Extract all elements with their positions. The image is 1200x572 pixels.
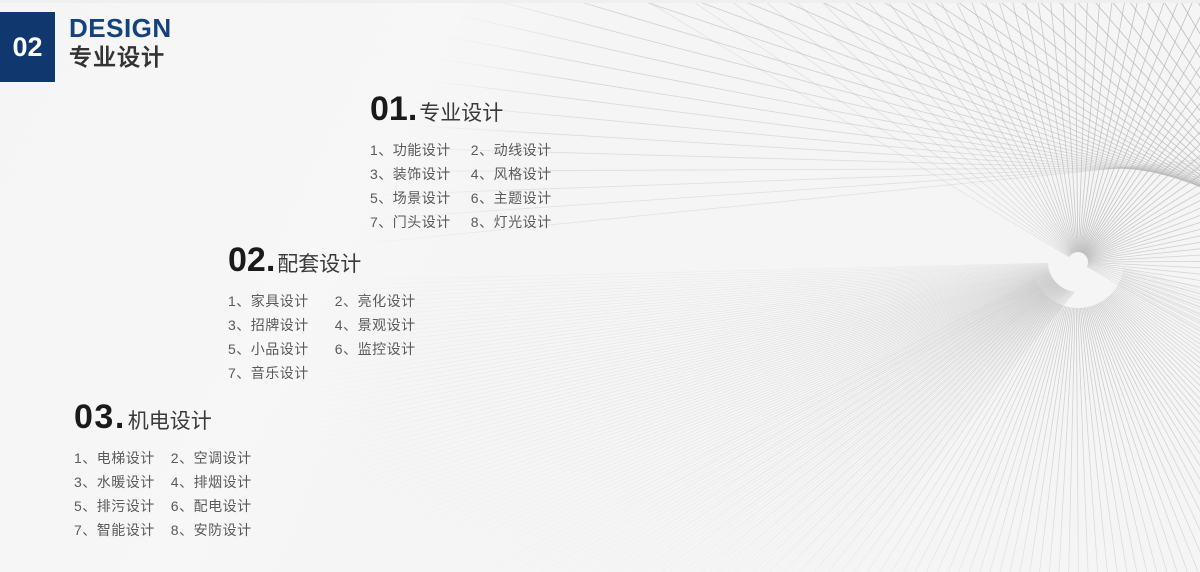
list-item: 3、招牌设计: [228, 313, 309, 337]
list-item: [335, 361, 416, 385]
slide-header: 02 DESIGN 专业设计: [0, 12, 172, 82]
list-item: 3、装饰设计: [370, 162, 451, 186]
list-item: 3、水暖设计: [74, 470, 155, 494]
list-item: 6、监控设计: [335, 337, 416, 361]
block-subtitle: 配套设计: [277, 254, 361, 275]
list-item: 1、电梯设计: [74, 446, 155, 470]
page-title-cn: 专业设计: [69, 44, 172, 72]
list-item: 4、风格设计: [471, 162, 552, 186]
slide-canvas: 02 DESIGN 专业设计 01. 专业设计 1、功能设计 2、动线设计 3、…: [0, 0, 1200, 572]
content-block-01: 01. 专业设计 1、功能设计 2、动线设计 3、装饰设计 4、风格设计 5、场…: [370, 92, 552, 234]
block-subtitle: 机电设计: [128, 411, 212, 432]
list-item: 7、音乐设计: [228, 361, 309, 385]
list-item: 8、安防设计: [171, 518, 252, 542]
list-item: 2、空调设计: [171, 446, 252, 470]
list-item: 4、排烟设计: [171, 470, 252, 494]
list-item: 1、家具设计: [228, 289, 309, 313]
block-item-list: 1、家具设计 2、亮化设计 3、招牌设计 4、景观设计 5、小品设计 6、监控设…: [228, 289, 416, 385]
list-item: 5、小品设计: [228, 337, 309, 361]
list-item: 6、配电设计: [171, 494, 252, 518]
block-number: 03.: [74, 400, 126, 434]
content-block-03: 03. 机电设计 1、电梯设计 2、空调设计 3、水暖设计 4、排烟设计 5、排…: [74, 400, 252, 542]
list-item: 6、主题设计: [471, 186, 552, 210]
block-item-list: 1、电梯设计 2、空调设计 3、水暖设计 4、排烟设计 5、排污设计 6、配电设…: [74, 446, 252, 542]
section-number-badge: 02: [0, 12, 55, 82]
header-text-group: DESIGN 专业设计: [69, 15, 172, 72]
list-item: 5、场景设计: [370, 186, 451, 210]
content-block-02: 02. 配套设计 1、家具设计 2、亮化设计 3、招牌设计 4、景观设计 5、小…: [228, 243, 416, 385]
block-item-list: 1、功能设计 2、动线设计 3、装饰设计 4、风格设计 5、场景设计 6、主题设…: [370, 138, 552, 234]
block-subtitle: 专业设计: [419, 103, 503, 124]
list-item: 1、功能设计: [370, 138, 451, 162]
page-title-en: DESIGN: [69, 15, 172, 42]
block-number: 01.: [370, 92, 417, 126]
list-item: 4、景观设计: [335, 313, 416, 337]
list-item: 7、门头设计: [370, 210, 451, 234]
block-heading: 02. 配套设计: [228, 243, 416, 277]
top-hairline: [0, 0, 1200, 3]
list-item: 7、智能设计: [74, 518, 155, 542]
list-item: 5、排污设计: [74, 494, 155, 518]
list-item: 2、动线设计: [471, 138, 552, 162]
block-heading: 03. 机电设计: [74, 400, 252, 434]
block-heading: 01. 专业设计: [370, 92, 552, 126]
list-item: 8、灯光设计: [471, 210, 552, 234]
list-item: 2、亮化设计: [335, 289, 416, 313]
block-number: 02.: [228, 243, 275, 277]
